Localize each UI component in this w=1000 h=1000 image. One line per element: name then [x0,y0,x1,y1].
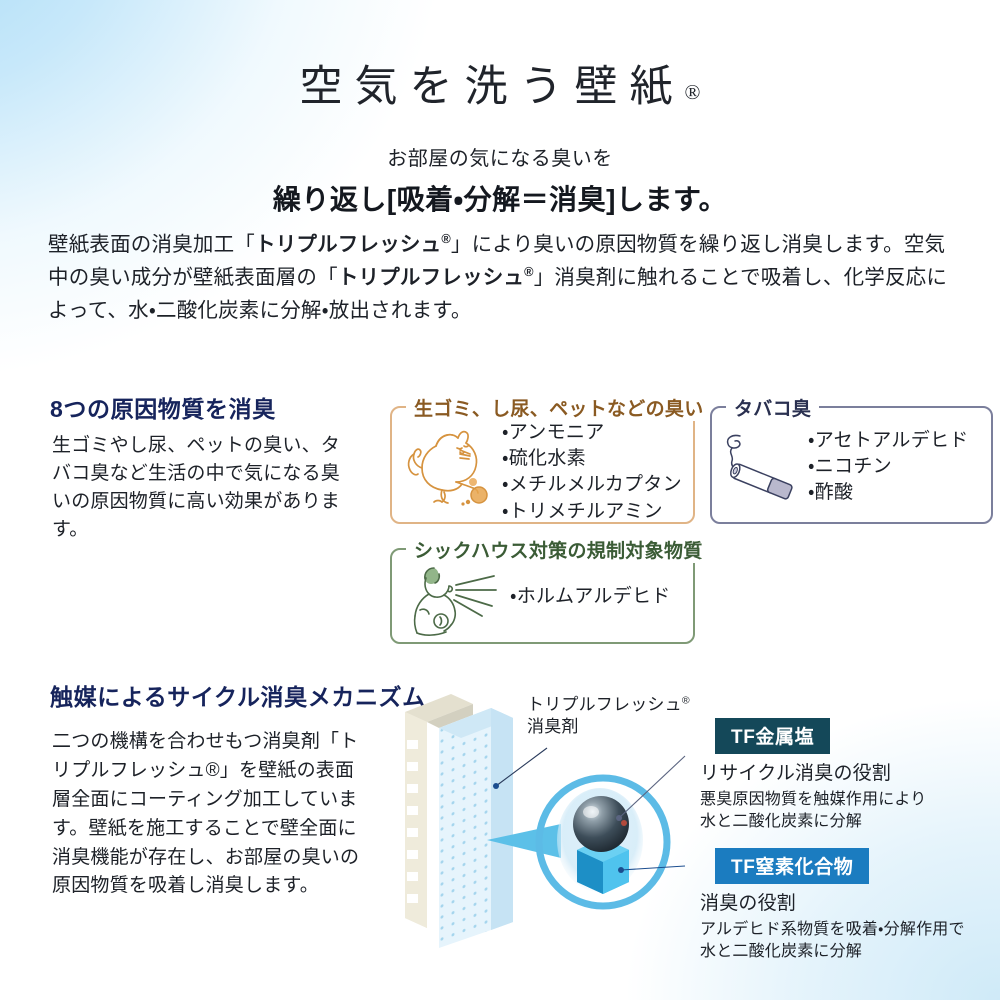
section-body-odor: 生ゴミやし尿、ペットの臭い、タバコ臭など生活の中で気になる臭いの原因物質に高い効… [52,432,352,544]
section-heading-odor: 8つの原因物質を消臭 [50,390,276,424]
callout-metal-line-2: 水と二酸化炭素に分解 [700,811,990,833]
registered-mark: ® [685,80,701,104]
badge-tf-metal-salt: TF金属塩 [715,718,830,754]
list-item: ・硫化水素 [502,446,682,472]
cat-icon [400,424,500,510]
list-item: ・酢酸 [808,480,969,506]
section-body-mechanism: 二つの機構を合わせもつ消臭剤「トリプルフレッシュ®」を壁紙の表面層全面にコーティ… [52,728,372,901]
callout-nitro-line-1: アルデヒド系物質を吸着・分解作用で [700,919,1000,941]
wallpaper-cross-section-magnifier-icon [395,690,685,955]
callout-metal-line-1: 悪臭原因物質を触媒作用により [700,789,990,811]
page-title: 空気を洗う壁紙® [0,52,1000,114]
brand-reg-1: ® [441,231,451,246]
infographic-page: 空気を洗う壁紙® お部屋の気になる臭いを 繰り返し[吸着・分解＝消臭]します。 … [0,0,1000,1000]
list-item: ・ホルムアルデヒド [510,584,671,610]
panel-sickhouse-odor: シックハウス対策の規制対象物質 [390,548,695,644]
panel-kitchen-title: 生ゴミ、し尿、ペットなどの臭い [406,394,712,421]
hero-header: 空気を洗う壁紙® お部屋の気になる臭いを 繰り返し[吸着・分解＝消臭]します。 [0,0,1000,218]
brand-name-2: トリプルフレッシュ [338,266,524,289]
panel-kitchen-odor: 生ゴミ、し尿、ペットなどの臭い [390,406,695,524]
panel-tobacco-odor: タバコ臭 ・アセトアルデヒド ・ニコチン ・酢酸 [710,406,993,524]
page-title-text: 空気を洗う壁紙 [300,64,685,111]
panel-tobacco-title: タバコ臭 [726,394,819,421]
list-item: ・メチルメルカプタン [502,472,682,498]
list-item: ・トリメチルアミン [502,499,682,525]
panel-sickhouse-items: ・ホルムアルデヒド [510,584,671,610]
coughing-person-icon [404,558,508,642]
callout-tf-nitrogen-compound: 消臭の役割 アルデヒド系物質を吸着・分解作用で 水と二酸化炭素に分解 [700,888,1000,963]
brand-name-1: トリプルフレッシュ [255,233,441,256]
lead-paragraph: 壁紙表面の消臭加工「トリプルフレッシュ®」により臭いの原因物質を繰り返し消臭しま… [48,228,953,328]
subtitle-line-2: 繰り返し[吸着・分解＝消臭]します。 [0,178,1000,218]
brand-reg-2: ® [524,264,534,279]
subtitle-line-1: お部屋の気になる臭いを [0,142,1000,171]
callout-tf-metal-salt: リサイクル消臭の役割 悪臭原因物質を触媒作用により 水と二酸化炭素に分解 [700,758,990,833]
list-item: ・アセトアルデヒド [808,428,969,454]
callout-nitro-line-2: 水と二酸化炭素に分解 [700,941,1000,963]
lead-part-1: 壁紙表面の消臭加工「 [48,233,255,256]
callout-nitro-head: 消臭の役割 [700,888,1000,915]
section-heading-mechanism: 触媒によるサイクル消臭メカニズム [50,678,426,712]
badge-tf-nitrogen-compound: TF窒素化合物 [715,848,869,884]
list-item: ・ニコチン [808,454,969,480]
cigarette-icon [718,428,804,508]
list-item: ・アンモニア [502,420,682,446]
panel-tobacco-items: ・アセトアルデヒド ・ニコチン ・酢酸 [808,428,969,507]
callout-metal-head: リサイクル消臭の役割 [700,758,990,785]
panel-kitchen-items: ・アンモニア ・硫化水素 ・メチルメルカプタン ・トリメチルアミン [502,420,682,525]
